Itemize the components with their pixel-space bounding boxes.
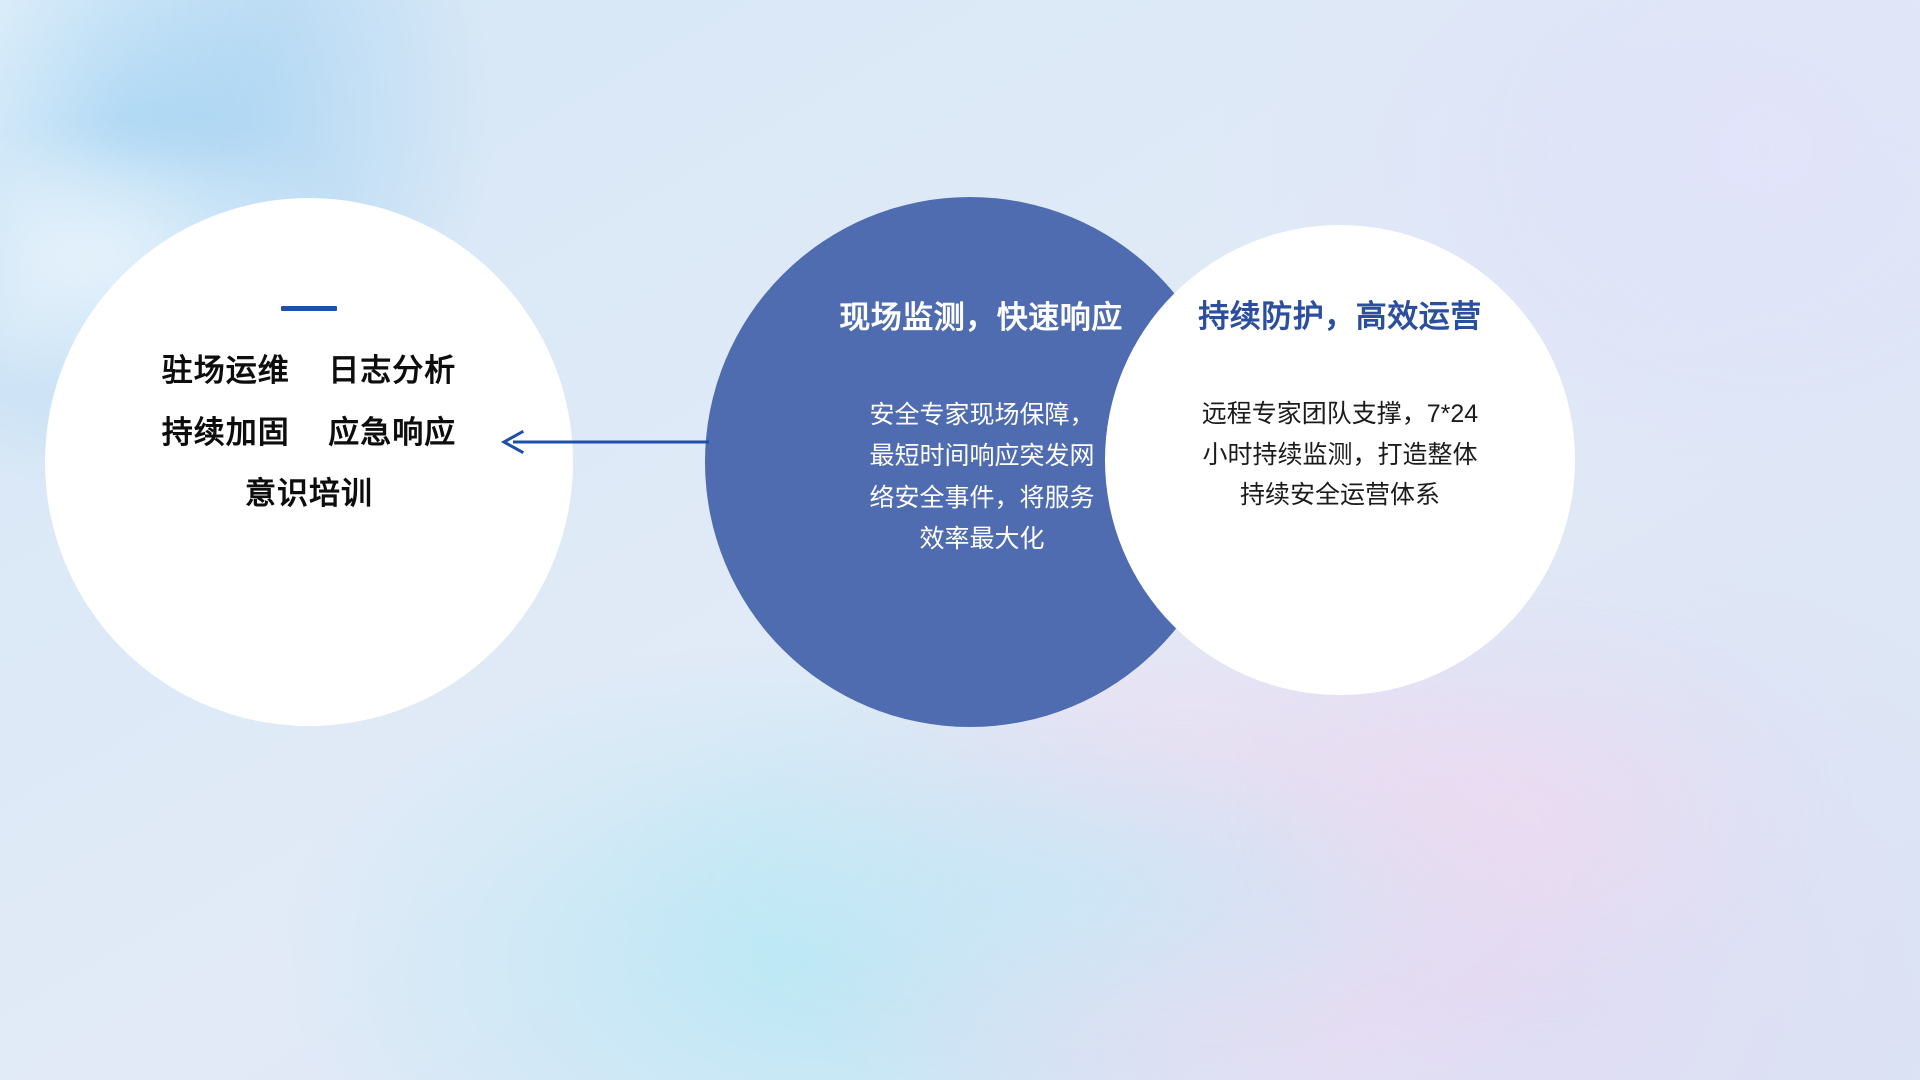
right-body-line-1: 远程专家团队支撑，7*24 xyxy=(1140,394,1540,435)
right-body-line-3: 持续安全运营体系 xyxy=(1140,475,1540,516)
right-circle-title: 持续防护，高效运营 xyxy=(1198,291,1482,336)
right-body-line-2: 小时持续监测，打造整体 xyxy=(1140,435,1540,476)
center-body-line-3: 络安全事件，将服务 xyxy=(832,478,1132,519)
background-glow-bottom-center xyxy=(640,740,1540,1040)
left-circle-line-1: 驻场运维 日志分析 xyxy=(162,355,456,388)
right-circle-body: 远程专家团队支撑，7*24 小时持续监测，打造整体 持续安全运营体系 xyxy=(1140,394,1540,516)
center-body-line-2: 最短时间响应突发网 xyxy=(832,436,1132,477)
center-circle-title: 现场监测，快速响应 xyxy=(839,292,1123,337)
left-circle-content: 驻场运维 日志分析 持续加固 应急响应 意识培训 xyxy=(45,198,573,726)
right-circle-content: 持续防护，高效运营 远程专家团队支撑，7*24 小时持续监测，打造整体 持续安全… xyxy=(1105,225,1575,695)
center-body-line-1: 安全专家现场保障， xyxy=(832,395,1132,436)
center-circle-body: 安全专家现场保障， 最短时间响应突发网 络安全事件，将服务 效率最大化 xyxy=(832,395,1132,560)
left-circle-line-3: 意识培训 xyxy=(245,478,373,511)
left-circle-line-2: 持续加固 应急响应 xyxy=(162,417,456,450)
center-body-line-4: 效率最大化 xyxy=(832,519,1132,560)
left-circle-divider xyxy=(281,306,337,311)
slide-canvas: 驻场运维 日志分析 持续加固 应急响应 意识培训 现场监测，快速响应 安全专家现… xyxy=(0,0,1920,1080)
